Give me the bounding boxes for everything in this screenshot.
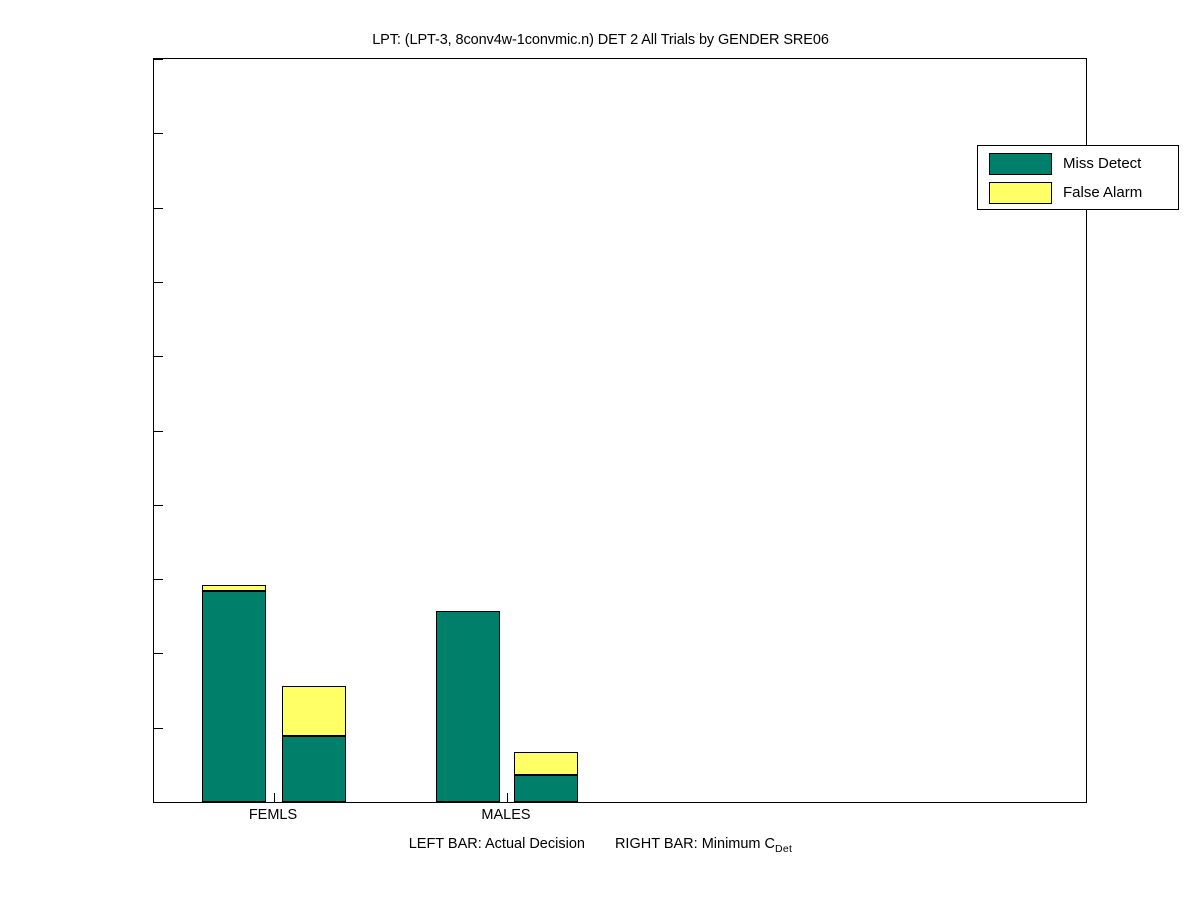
x-axis-label: LEFT BAR: Actual DecisionRIGHT BAR: Mini…	[0, 834, 1201, 859]
bar-males-mincdet	[514, 751, 578, 802]
legend-swatch-miss-detect	[989, 153, 1052, 175]
xlabel-right-subscript: Det	[775, 843, 792, 855]
xlabel-left-text: LEFT BAR: Actual Decision	[409, 836, 585, 852]
y-tick-mark	[154, 282, 163, 283]
y-tick-mark	[154, 653, 163, 654]
bar-segment-false-alarm	[514, 752, 578, 776]
plot-area: 00.10.20.30.40.50.60.70.80.91 Miss Detec…	[153, 58, 1087, 803]
legend-swatch-false-alarm	[989, 182, 1052, 204]
bar-segment-false-alarm	[282, 686, 346, 736]
bar-segment-miss-detect	[282, 736, 346, 802]
bar-femls-actual	[202, 585, 266, 802]
x-tick-label-males: MALES	[481, 806, 530, 824]
legend-label-miss-detect: Miss Detect	[1063, 155, 1141, 173]
bar-segment-miss-detect	[436, 611, 500, 802]
y-tick-mark	[154, 356, 163, 357]
chart-title: LPT: (LPT-3, 8conv4w-1convmic.n) DET 2 A…	[0, 31, 1201, 49]
figure-canvas: LPT: (LPT-3, 8conv4w-1convmic.n) DET 2 A…	[0, 0, 1201, 900]
bar-femls-mincdet	[282, 686, 346, 802]
legend: Miss Detect False Alarm	[977, 145, 1179, 210]
bar-segment-miss-detect	[514, 775, 578, 802]
y-tick-mark	[154, 59, 163, 60]
y-tick-mark	[154, 505, 163, 506]
y-tick-mark	[154, 431, 163, 432]
x-tick-label-femls: FEMLS	[249, 806, 297, 824]
y-tick-mark	[154, 728, 163, 729]
xlabel-right-text: RIGHT BAR: Minimum C	[615, 836, 775, 852]
legend-label-false-alarm: False Alarm	[1063, 184, 1142, 202]
y-tick-mark	[154, 802, 163, 803]
legend-item-false-alarm: False Alarm	[989, 179, 1142, 206]
y-tick-mark	[154, 579, 163, 580]
legend-item-miss-detect: Miss Detect	[989, 150, 1141, 177]
x-tick-mark	[507, 793, 508, 802]
bar-segment-miss-detect	[202, 591, 266, 802]
y-tick-mark	[154, 208, 163, 209]
bar-males-actual	[436, 611, 500, 802]
x-tick-mark	[274, 793, 275, 802]
bar-segment-false-alarm	[202, 585, 266, 591]
y-tick-mark	[154, 133, 163, 134]
